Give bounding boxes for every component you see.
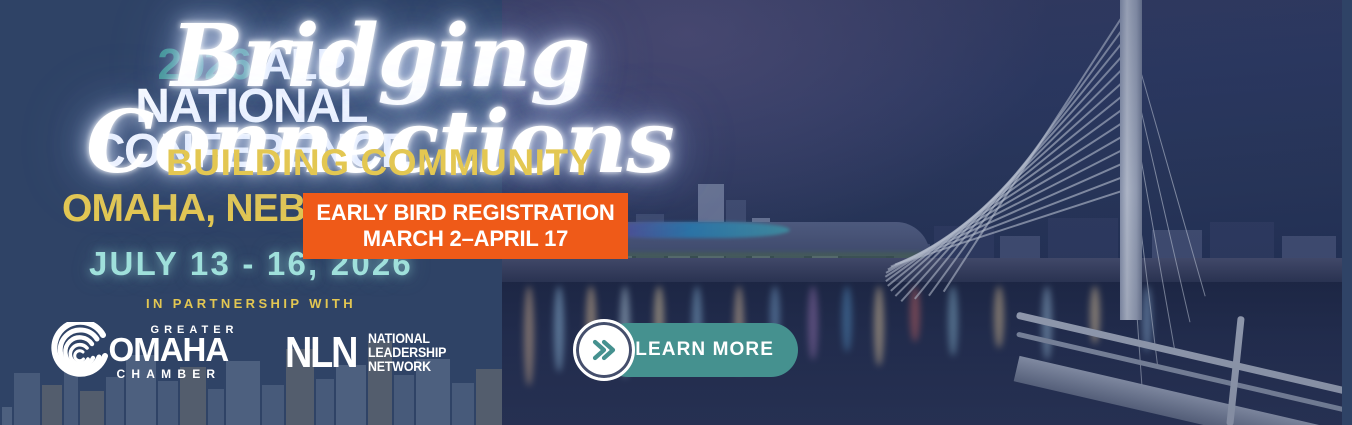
double-chevron-right-icon[interactable] — [573, 319, 635, 381]
conference-promo-banner: Bridging Connections BUILDING COMMUNITY … — [0, 0, 1352, 425]
subtitle: BUILDING COMMUNITY — [0, 142, 760, 184]
learn-more-label: LEARN MORE — [635, 339, 774, 361]
learn-more-button[interactable]: LEARN MORE — [573, 319, 798, 381]
badge-line-1: EARLY BIRD REGISTRATION — [316, 200, 614, 226]
badge-line-2: MARCH 2–APRIL 17 — [363, 226, 568, 252]
right-edge-border — [1342, 0, 1352, 425]
early-bird-registration-badge: EARLY BIRD REGISTRATION MARCH 2–APRIL 17 — [303, 193, 628, 259]
right-panel-content: Bridging Connections BUILDING COMMUNITY … — [0, 0, 1352, 425]
